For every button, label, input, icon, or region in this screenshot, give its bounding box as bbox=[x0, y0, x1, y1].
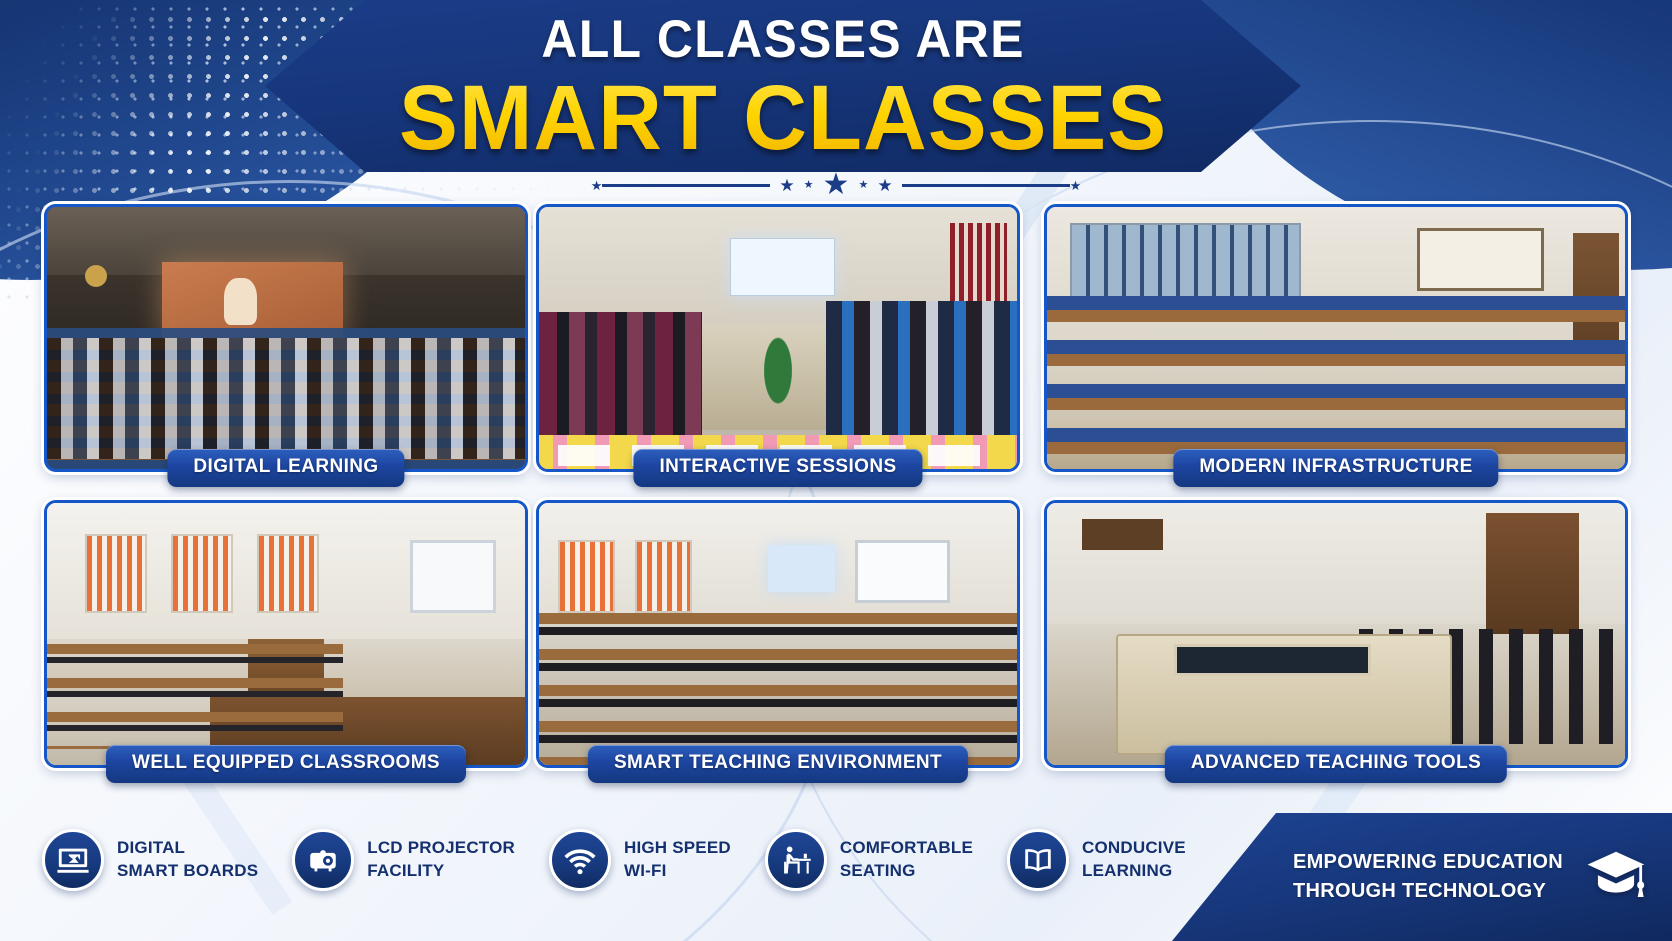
photo-image-digital-learning bbox=[47, 207, 525, 469]
smartboard-icon bbox=[42, 829, 104, 891]
feature-label-line2: FACILITY bbox=[367, 860, 515, 883]
photo-caption-interactive-sessions: INTERACTIVE SESSIONS bbox=[633, 449, 922, 487]
feature-label-line2: SMART BOARDS bbox=[117, 860, 258, 883]
page-title-line1: ALL CLASSES ARE bbox=[541, 13, 1024, 66]
divider-line-right bbox=[902, 184, 1070, 187]
photo-card-interactive-sessions[interactable]: INTERACTIVE SESSIONS bbox=[536, 204, 1020, 472]
photo-image-modern-infrastructure bbox=[1047, 207, 1625, 469]
photo-card-modern-infrastructure[interactable]: MODERN INFRASTRUCTURE bbox=[1044, 204, 1628, 472]
feature-label-line1: COMFORTABLE bbox=[840, 837, 973, 860]
photo-caption-advanced-teaching-tools: ADVANCED TEACHING TOOLS bbox=[1165, 745, 1507, 783]
divider-star-left: ★ bbox=[779, 177, 794, 194]
photo-image-well-equipped-classrooms bbox=[47, 503, 525, 765]
photo-image-interactive-sessions bbox=[539, 207, 1017, 469]
wifi-icon bbox=[549, 829, 611, 891]
divider-star-center: ★ bbox=[823, 170, 850, 200]
header-banner: ALL CLASSES ARE SMART CLASSES bbox=[265, 0, 1301, 172]
feature-label-line1: HIGH SPEED bbox=[624, 837, 731, 860]
star-divider: ★ ★ ★ ★ ★ ★ ★ bbox=[0, 172, 1672, 198]
photo-caption-digital-learning: DIGITAL LEARNING bbox=[167, 449, 404, 487]
desk-seat-icon bbox=[765, 829, 827, 891]
banner-stage: ALL CLASSES ARE SMART CLASSES ★ ★ ★ ★ ★ … bbox=[0, 0, 1672, 941]
feature-comfortable-seating[interactable]: COMFORTABLE SEATING bbox=[765, 829, 973, 891]
photo-caption-modern-infrastructure: MODERN INFRASTRUCTURE bbox=[1173, 449, 1498, 487]
feature-high-speed-wifi[interactable]: HIGH SPEED WI-FI bbox=[549, 829, 731, 891]
photo-caption-smart-teaching-environment: SMART TEACHING ENVIRONMENT bbox=[588, 745, 968, 783]
feature-label-line2: LEARNING bbox=[1082, 860, 1186, 883]
feature-strip: DIGITAL SMART BOARDS LCD PROJECTOR FACIL… bbox=[42, 790, 1202, 930]
feature-conducive-learning[interactable]: CONDUCIVE LEARNING bbox=[1007, 829, 1186, 891]
divider-line-left bbox=[602, 184, 770, 187]
tagline-line1: EMPOWERING EDUCATION bbox=[1293, 848, 1563, 877]
photo-card-smart-teaching-environment[interactable]: SMART TEACHING ENVIRONMENT bbox=[536, 500, 1020, 768]
open-book-icon bbox=[1007, 829, 1069, 891]
feature-lcd-projector-facility[interactable]: LCD PROJECTOR FACILITY bbox=[292, 829, 515, 891]
divider-star-right-small: ★ bbox=[858, 180, 868, 191]
photo-grid: DIGITAL LEARNING INTERACTIVE SESSIONS bbox=[44, 204, 1628, 774]
divider-star-far-right: ★ bbox=[1070, 179, 1082, 192]
graduation-cap-icon bbox=[1585, 844, 1647, 911]
divider-star-far-left: ★ bbox=[591, 179, 603, 192]
tagline-text: EMPOWERING EDUCATION THROUGH TECHNOLOGY bbox=[1293, 848, 1563, 906]
photo-image-smart-teaching-environment bbox=[539, 503, 1017, 765]
photo-card-advanced-teaching-tools[interactable]: ADVANCED TEACHING TOOLS bbox=[1044, 500, 1628, 768]
divider-star-left-small: ★ bbox=[804, 180, 814, 191]
feature-label-line1: LCD PROJECTOR bbox=[367, 837, 515, 860]
feature-label-line2: SEATING bbox=[840, 860, 973, 883]
feature-label-line1: DIGITAL bbox=[117, 837, 258, 860]
tagline-line2: THROUGH TECHNOLOGY bbox=[1293, 877, 1563, 906]
photo-image-advanced-teaching-tools bbox=[1047, 503, 1625, 765]
projector-icon bbox=[292, 829, 354, 891]
feature-digital-smart-boards[interactable]: DIGITAL SMART BOARDS bbox=[42, 829, 258, 891]
feature-label-line2: WI-FI bbox=[624, 860, 731, 883]
photo-card-digital-learning[interactable]: DIGITAL LEARNING bbox=[44, 204, 528, 472]
feature-label-line1: CONDUCIVE bbox=[1082, 837, 1186, 860]
photo-card-well-equipped-classrooms[interactable]: WELL EQUIPPED CLASSROOMS bbox=[44, 500, 528, 768]
divider-star-right: ★ bbox=[877, 177, 892, 194]
photo-caption-well-equipped-classrooms: WELL EQUIPPED CLASSROOMS bbox=[106, 745, 466, 783]
page-title-line2: SMART CLASSES bbox=[399, 72, 1167, 164]
